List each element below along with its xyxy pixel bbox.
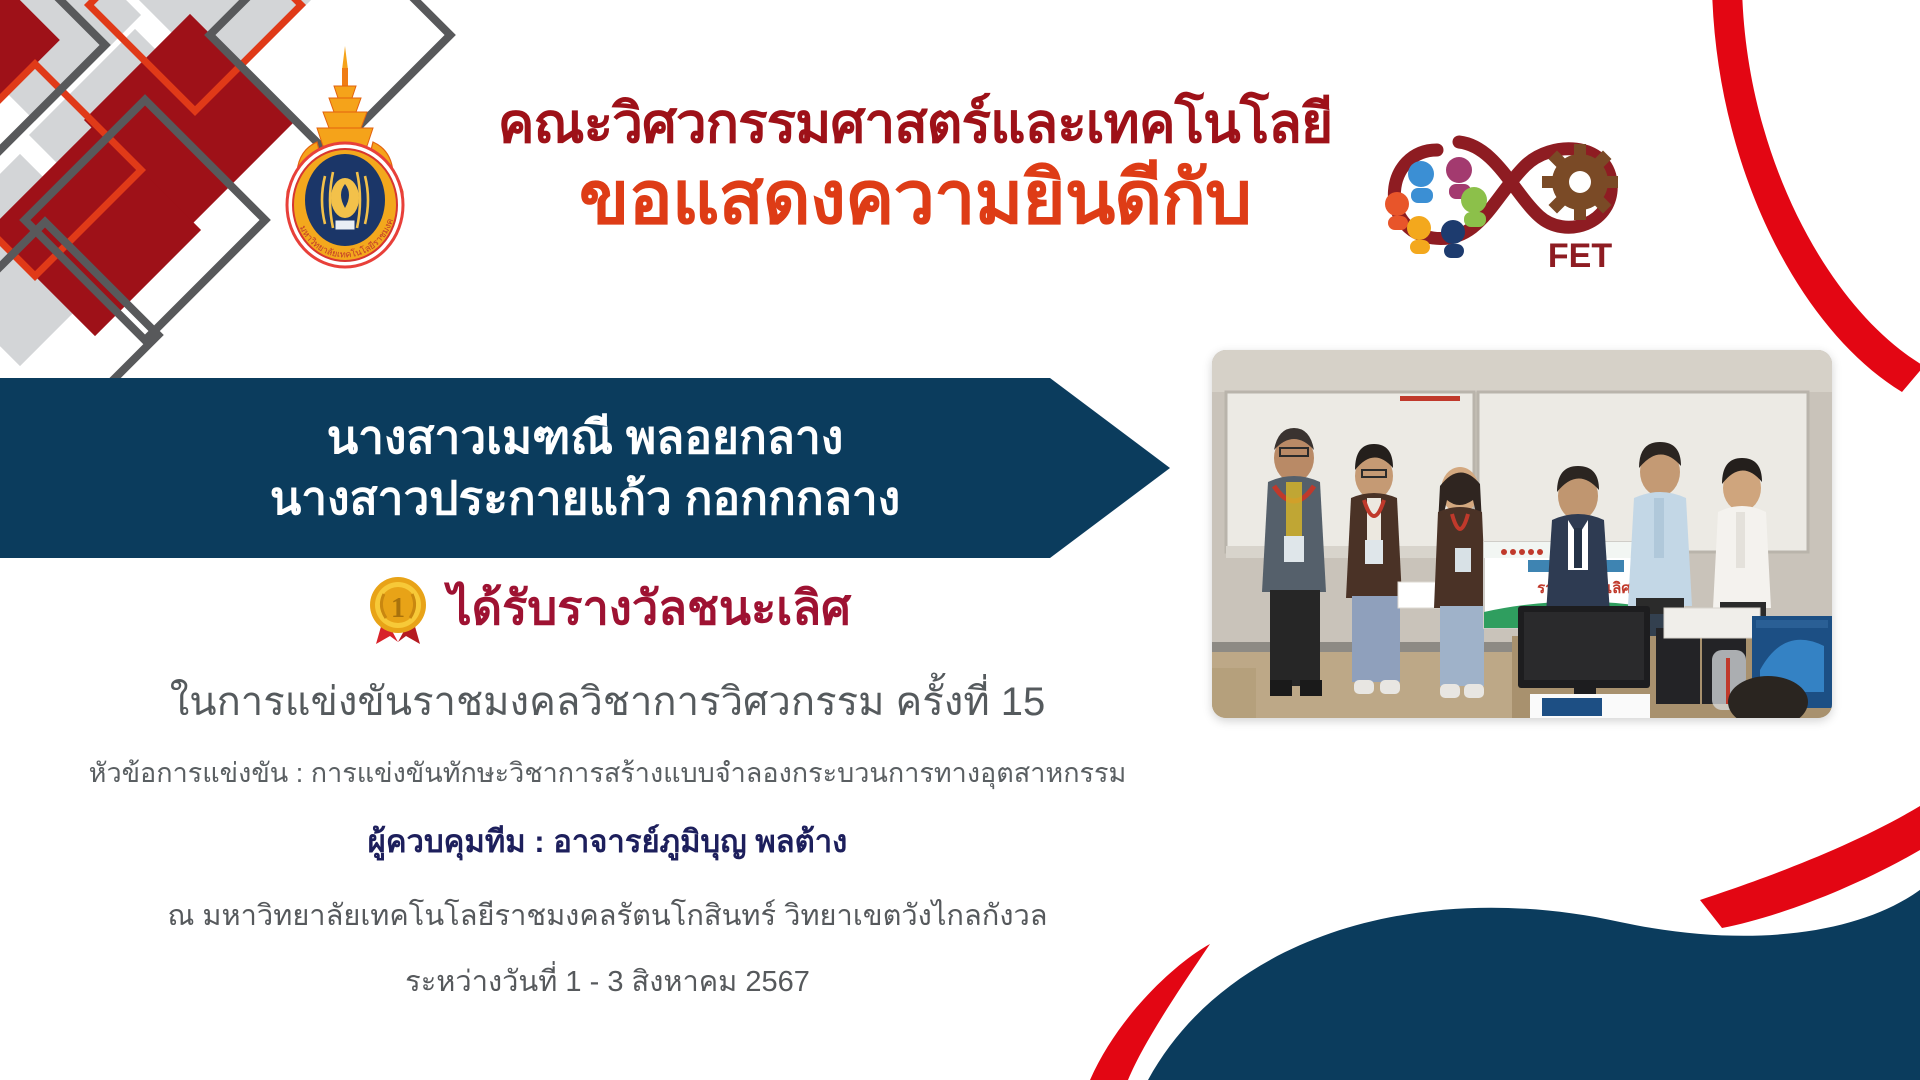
- team-advisor: ผู้ควบคุมทีม : อาจารย์ภูมิบุญ พลต้าง: [0, 816, 1215, 866]
- awardee-name-banner: นางสาวเมฑณี พลอยกลาง นางสาวประกายแก้ว กอ…: [0, 378, 1170, 558]
- red-accent-bottom-right: [1700, 806, 1920, 928]
- award-details-block: 1 ได้รับรางวัลชนะเลิศ ในการแข่งขันราชมงค…: [0, 570, 1215, 1004]
- congratulations-title: ขอแสดงความยินดีกับ: [460, 157, 1370, 240]
- rmuti-university-seal-icon: มหาวิทยาลัยเทคโนโลยีราชมงคลอีสาน: [255, 42, 435, 274]
- awardee-name-2: นางสาวประกายแก้ว กอกกกลาง: [270, 468, 900, 529]
- event-venue: ณ มหาวิทยาลัยเทคโนโลยีราชมงคลรัตนโกสินทร…: [0, 892, 1215, 938]
- faculty-title: คณะวิศวกรรมศาสตร์และเทคโนโลยี: [460, 95, 1370, 153]
- awardee-name-1: นางสาวเมฑณี พลอยกลาง: [327, 407, 844, 468]
- gear-icon: [1542, 144, 1618, 220]
- congratulations-poster: มหาวิทยาลัยเทคโนโลยีราชมงคลอีสาน คณะวิศว…: [0, 0, 1920, 1080]
- award-title: ได้รับรางวัลชนะเลิศ: [448, 570, 851, 645]
- header-text-block: คณะวิศวกรรมศาสตร์และเทคโนโลยี ขอแสดงความ…: [460, 95, 1370, 240]
- poster-header: มหาวิทยาลัยเทคโนโลยีราชมงคลอีสาน คณะวิศว…: [0, 0, 1920, 300]
- contest-name: ในการแข่งขันราชมงคลวิชาการวิศวกรรม ครั้ง…: [0, 669, 1215, 733]
- event-date: ระหว่างวันที่ 1 - 3 สิงหาคม 2567: [0, 958, 1215, 1004]
- award-headline-row: 1 ได้รับรางวัลชนะเลิศ: [0, 570, 1215, 645]
- fet-label: FET: [1548, 237, 1612, 275]
- medal-number: 1: [391, 593, 405, 624]
- photo-person-3: [1434, 467, 1486, 698]
- contest-topic: หัวข้อการแข่งขัน : การแข่งขันทักษะวิชากา…: [0, 751, 1215, 794]
- fet-infinity-logo-icon: FET: [1375, 112, 1645, 277]
- award-ceremony-photo: รางวัลชนะเลิศ 1,500 บาท: [1212, 350, 1832, 718]
- navy-wave-bottom: [1148, 886, 1920, 1080]
- gold-medal-first-place-icon: 1: [364, 572, 432, 644]
